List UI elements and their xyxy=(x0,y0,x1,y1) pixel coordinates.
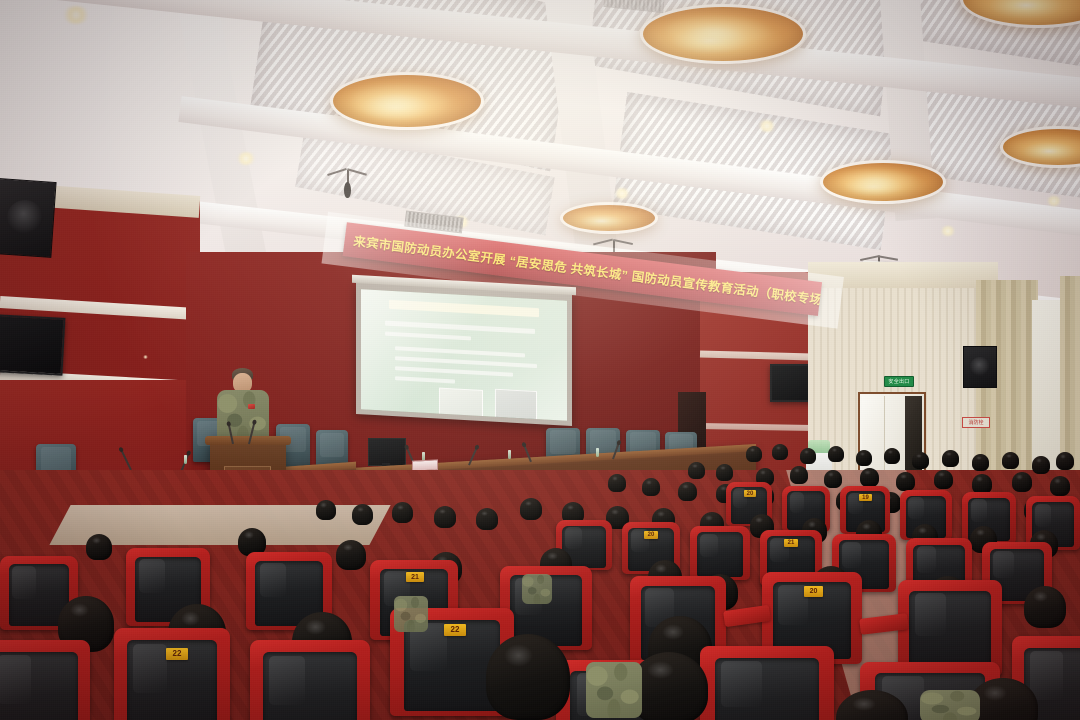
dome-light-glow xyxy=(840,168,918,192)
auditorium-seat[interactable] xyxy=(690,526,750,580)
audience-person xyxy=(828,446,844,462)
seat-number-plate: 22 xyxy=(166,648,188,660)
seat-number-plate: 19 xyxy=(859,494,872,501)
auditorium-seat[interactable] xyxy=(0,640,90,720)
audience-person xyxy=(934,470,953,489)
audience-person xyxy=(912,452,929,469)
audience-person xyxy=(86,534,112,560)
ceiling-spotlight xyxy=(62,6,90,24)
audience-person xyxy=(316,500,336,520)
door-leaf xyxy=(862,396,885,479)
wall-speaker-right xyxy=(963,346,997,388)
dome-light xyxy=(560,202,658,234)
right-panel-wall-upper xyxy=(808,262,998,288)
ceiling-spotlight xyxy=(236,152,256,165)
seat-number-plate: 21 xyxy=(784,539,798,547)
ceiling-fixture-icon xyxy=(336,170,358,204)
audience-person xyxy=(1050,476,1070,496)
audience-person xyxy=(790,466,808,484)
audience-person xyxy=(352,504,373,525)
ceiling-spotlight xyxy=(614,188,630,199)
audience-person xyxy=(860,468,879,487)
seat-number-plate: 20 xyxy=(744,490,756,497)
dome-light-glow xyxy=(668,14,772,46)
water-bottle xyxy=(508,450,511,459)
auditorium-seat[interactable]: 22 xyxy=(114,628,230,720)
water-bottle xyxy=(596,448,599,457)
wall-tv-left xyxy=(0,314,65,376)
audience-person xyxy=(800,448,816,464)
camouflage-jacket xyxy=(522,574,552,604)
ceiling-spotlight xyxy=(1046,196,1062,206)
audience-person xyxy=(608,474,626,492)
audience-person xyxy=(486,634,570,720)
auditorium-seat[interactable] xyxy=(250,640,370,720)
slide-content xyxy=(361,289,567,421)
audience-person xyxy=(1002,452,1019,469)
audience-person xyxy=(972,454,989,471)
exit-sign: 安全出口 xyxy=(884,376,914,387)
audience-person xyxy=(836,690,908,720)
audience-person xyxy=(856,450,872,466)
seat-number-plate: 21 xyxy=(406,572,424,582)
audience-person xyxy=(476,508,498,530)
audience-person xyxy=(392,502,413,523)
desk-monitor xyxy=(368,438,406,466)
uniform-badge xyxy=(248,404,255,409)
water-bottle xyxy=(184,455,187,464)
ceiling-spotlight xyxy=(940,226,956,236)
audience-person xyxy=(942,450,959,467)
screen-glare xyxy=(361,289,567,421)
audience-person xyxy=(1056,452,1074,470)
audience-person xyxy=(1032,456,1050,474)
audience-person xyxy=(896,472,915,491)
ceiling-spotlight xyxy=(758,120,776,132)
camouflage-jacket xyxy=(394,596,428,632)
audience-person xyxy=(746,446,762,462)
audience-person xyxy=(688,462,705,479)
wall-outlet-icon xyxy=(143,355,148,359)
camouflage-bag xyxy=(920,690,980,720)
seat-number-plate: 22 xyxy=(444,624,466,636)
camouflage-bag xyxy=(586,662,642,718)
fire-hydrant-sign: 消防栓 xyxy=(962,417,990,428)
audience-person xyxy=(1012,472,1032,492)
audience-person xyxy=(642,478,660,496)
audience-person xyxy=(336,540,366,570)
audience-person xyxy=(1024,586,1066,628)
seat-number-plate: 20 xyxy=(644,531,658,539)
audience-person xyxy=(520,498,542,520)
dome-light-glow xyxy=(352,84,452,118)
auditorium-seat[interactable] xyxy=(700,646,834,720)
audience-person xyxy=(972,474,992,494)
audience-person xyxy=(716,464,733,481)
audience-person xyxy=(772,444,788,460)
audience-person xyxy=(884,448,900,464)
projection-screen xyxy=(356,282,572,426)
audience-person xyxy=(678,482,697,501)
audience-person xyxy=(824,470,842,488)
audience-person xyxy=(434,506,456,528)
wall-speaker xyxy=(0,178,57,258)
auditorium-photo: 安全出口 消防栓 来宾市国防动员办公室开展 “居安思危 共筑长城” 国防动员宣传… xyxy=(0,0,1080,720)
seat-number-plate: 20 xyxy=(804,586,823,597)
